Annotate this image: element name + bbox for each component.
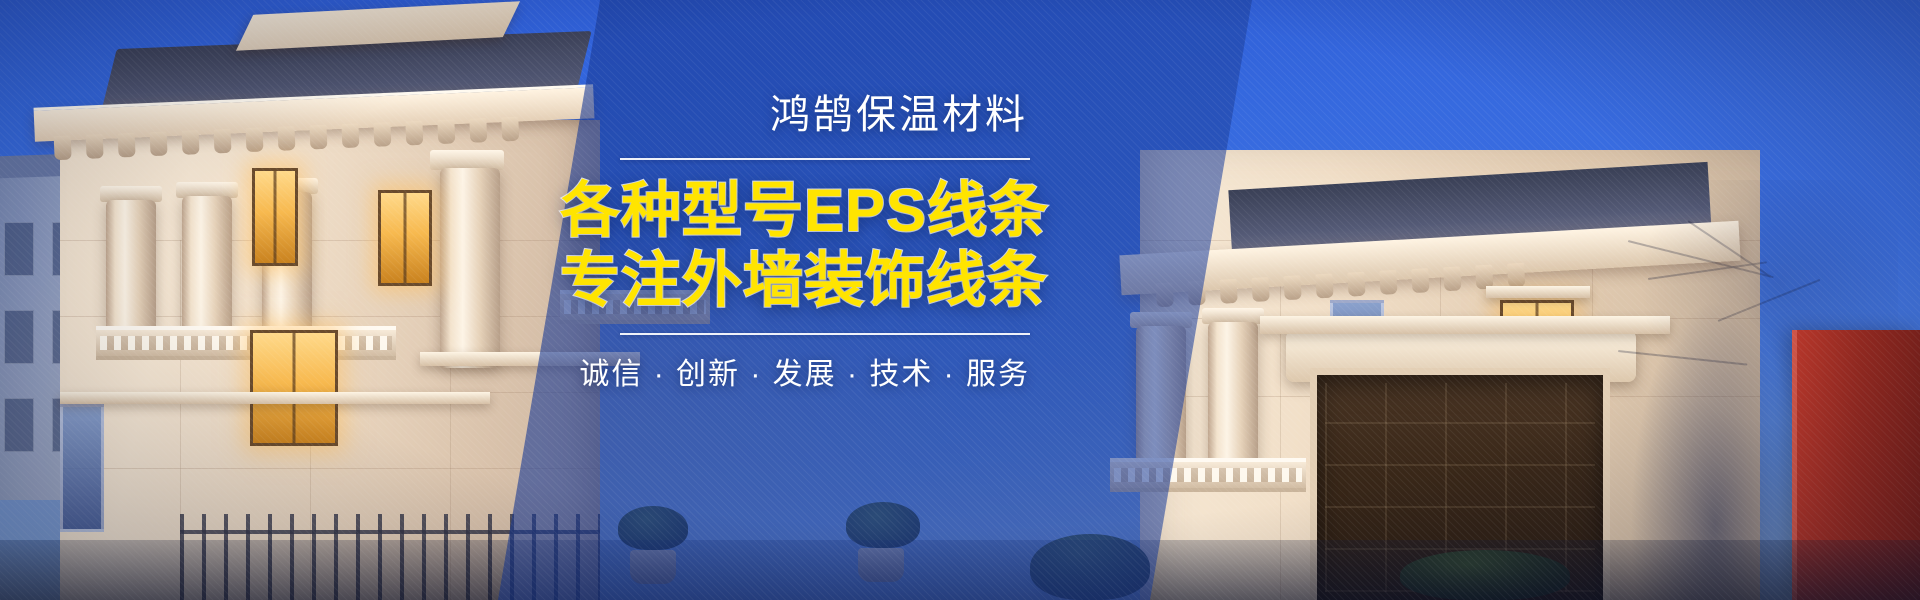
- balcony-balustrade: [96, 326, 396, 360]
- column: [182, 196, 232, 334]
- promo-banner: 鸿鹄保温材料 各种型号EPS线条 专注外墙装饰线条 诚信 · 创新 · 发展 ·…: [0, 0, 1920, 600]
- divider-top: [620, 158, 1030, 160]
- wall-ledge: [1486, 286, 1590, 298]
- lit-window: [250, 330, 338, 446]
- headline-line-2: 专注外墙装饰线条: [560, 246, 1030, 316]
- tagline: 诚信 · 创新 · 发展 · 技术 · 服务: [560, 355, 1030, 394]
- column: [1208, 322, 1258, 468]
- wall-ledge: [60, 392, 490, 404]
- column: [106, 200, 156, 332]
- column-large: [440, 168, 500, 368]
- window: [60, 404, 104, 532]
- banner-copy-block: 鸿鹄保温材料 各种型号EPS线条 专注外墙装饰线条 诚信 · 创新 · 发展 ·…: [560, 92, 1030, 394]
- divider-bottom: [620, 333, 1030, 335]
- column-capital: [430, 150, 504, 170]
- lit-window: [252, 168, 298, 266]
- lit-window: [378, 190, 432, 286]
- headline-line-1: 各种型号EPS线条: [560, 176, 1030, 246]
- brand-name: 鸿鹄保温材料: [560, 92, 1030, 138]
